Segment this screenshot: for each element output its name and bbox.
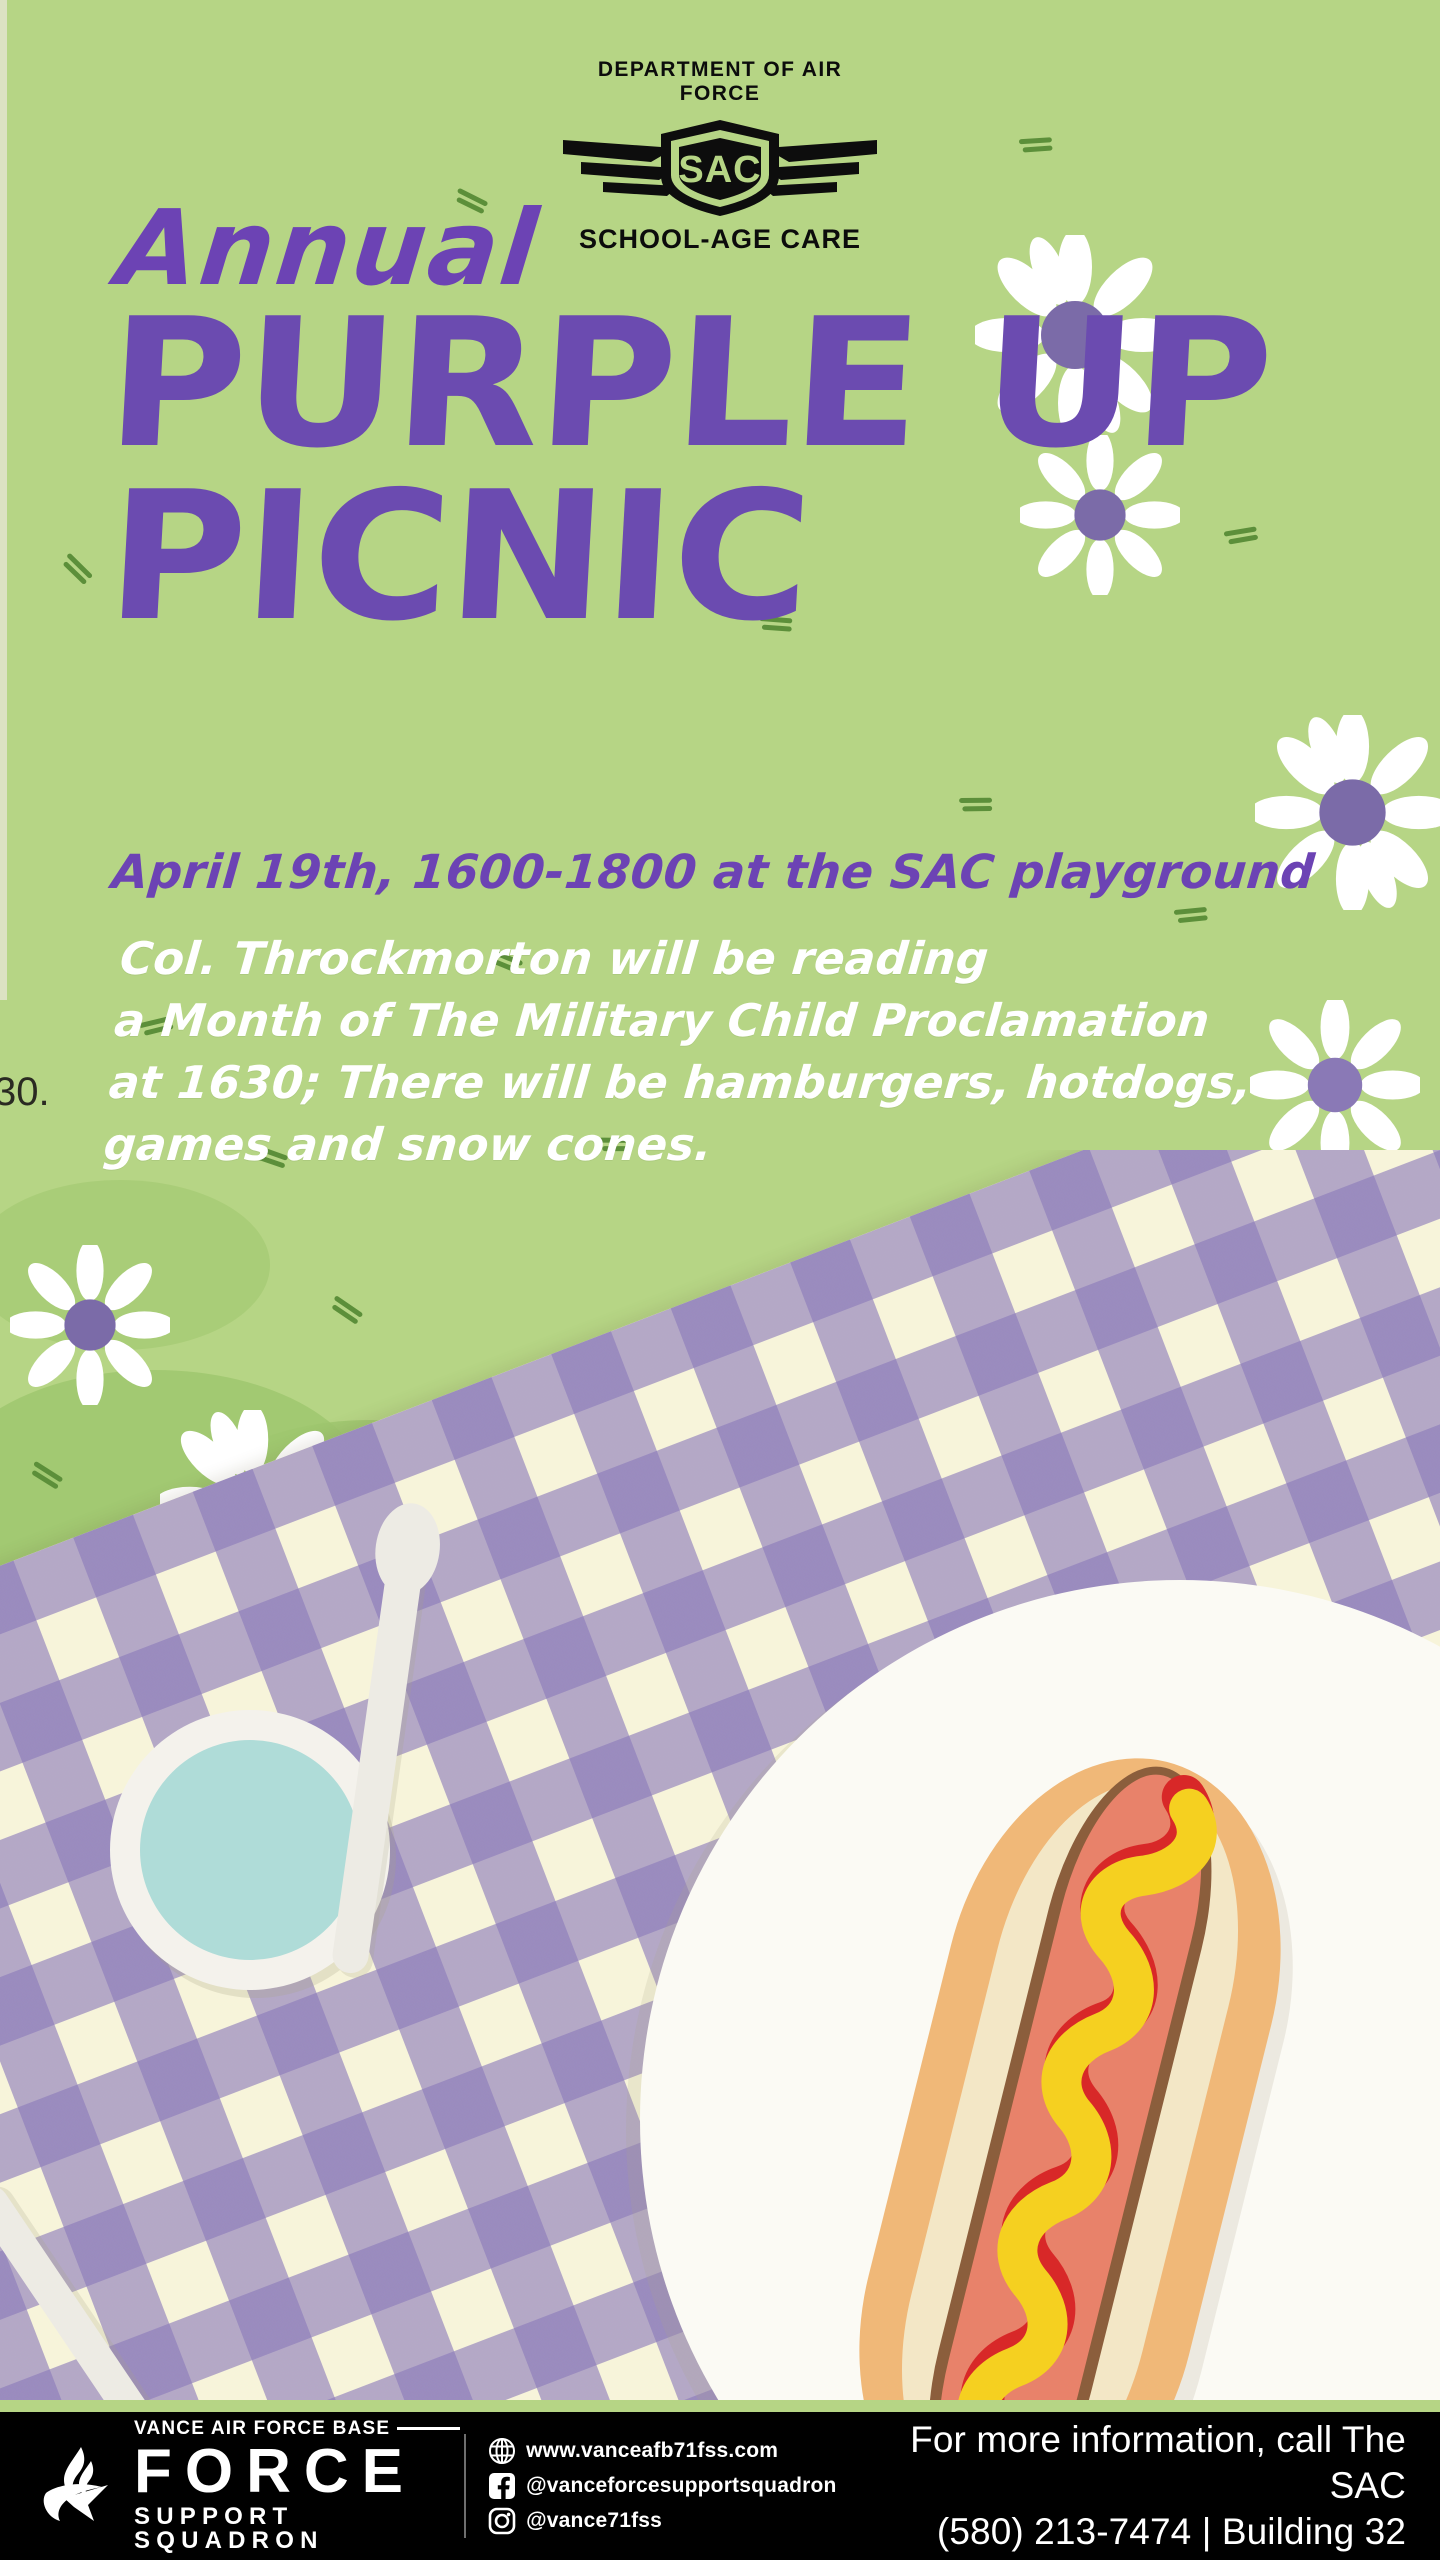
picnic-scene (0, 1150, 1440, 2400)
fss-base-row: VANCE AIR FORCE BASE (134, 2419, 460, 2438)
contact-line-2: (580) 213-7474 | Building 32 (837, 2509, 1406, 2555)
description-line: Col. Throckmorton will be reading (117, 928, 1302, 990)
svg-text:SAC: SAC (678, 149, 761, 191)
purple-up-picnic-poster: DEPARTMENT OF AIR FORCE SAC SCHOOL-AGE C… (0, 0, 1440, 2560)
grass-tuft (957, 784, 1008, 821)
flame-swoosh-icon (34, 2443, 120, 2529)
social-row-website[interactable]: www.vanceafb71fss.com (488, 2437, 836, 2465)
footer-bar: VANCE AIR FORCE BASE FORCE SUPPORT SQUAD… (0, 2412, 1440, 2560)
instagram-handle: @vance71fss (526, 2509, 662, 2533)
social-row-instagram[interactable]: @vance71fss (488, 2507, 836, 2535)
website-url: www.vanceafb71fss.com (526, 2439, 778, 2463)
sac-department-label: DEPARTMENT OF AIR FORCE (555, 58, 885, 106)
facebook-handle: @vanceforcesupportsquadron (526, 2474, 836, 2498)
fss-wordmark: VANCE AIR FORCE BASE FORCE SUPPORT SQUAD… (134, 2419, 460, 2553)
facebook-icon (488, 2472, 516, 2500)
headline-line-1: PURPLE UP (103, 300, 1344, 467)
event-description: Col. Throckmorton will be reading a Mont… (101, 928, 1303, 1176)
fss-squadron-word: SUPPORT SQUADRON (134, 2505, 460, 2553)
contact-line-1: For more information, call The SAC (837, 2417, 1406, 2509)
description-line: a Month of The Military Child Proclamati… (112, 990, 1297, 1052)
event-date-line: April 19th, 1600-1800 at the SAC playgro… (110, 845, 1295, 900)
cup-liquid (140, 1740, 360, 1960)
description-line: at 1630; There will be hamburgers, hotdo… (107, 1052, 1292, 1114)
fss-logo: VANCE AIR FORCE BASE FORCE SUPPORT SQUAD… (0, 2419, 460, 2553)
headline-block: Annual PURPLE UP PICNIC (110, 196, 1270, 641)
grass-tuft (57, 550, 110, 596)
social-links: www.vanceafb71fss.com @vanceforcesupport… (488, 2437, 836, 2535)
left-edge-strip (0, 0, 7, 1000)
footer-divider (464, 2434, 466, 2538)
fss-force-word: FORCE (134, 2441, 460, 2503)
fss-base-name: VANCE AIR FORCE BASE (134, 2419, 390, 2438)
contact-info: For more information, call The SAC (580)… (837, 2417, 1440, 2555)
social-row-facebook[interactable]: @vanceforcesupportsquadron (488, 2472, 836, 2500)
instagram-icon (488, 2507, 516, 2535)
headline-line-2: PICNIC (103, 473, 1344, 640)
fss-rule (397, 2427, 460, 2430)
globe-icon (488, 2437, 516, 2465)
description-line: games and snow cones. (101, 1114, 1286, 1176)
grass-tuft (1017, 124, 1069, 163)
event-details-block: April 19th, 1600-1800 at the SAC playgro… (112, 845, 1292, 1176)
clipped-text-fragment: 30. (0, 1070, 50, 1115)
